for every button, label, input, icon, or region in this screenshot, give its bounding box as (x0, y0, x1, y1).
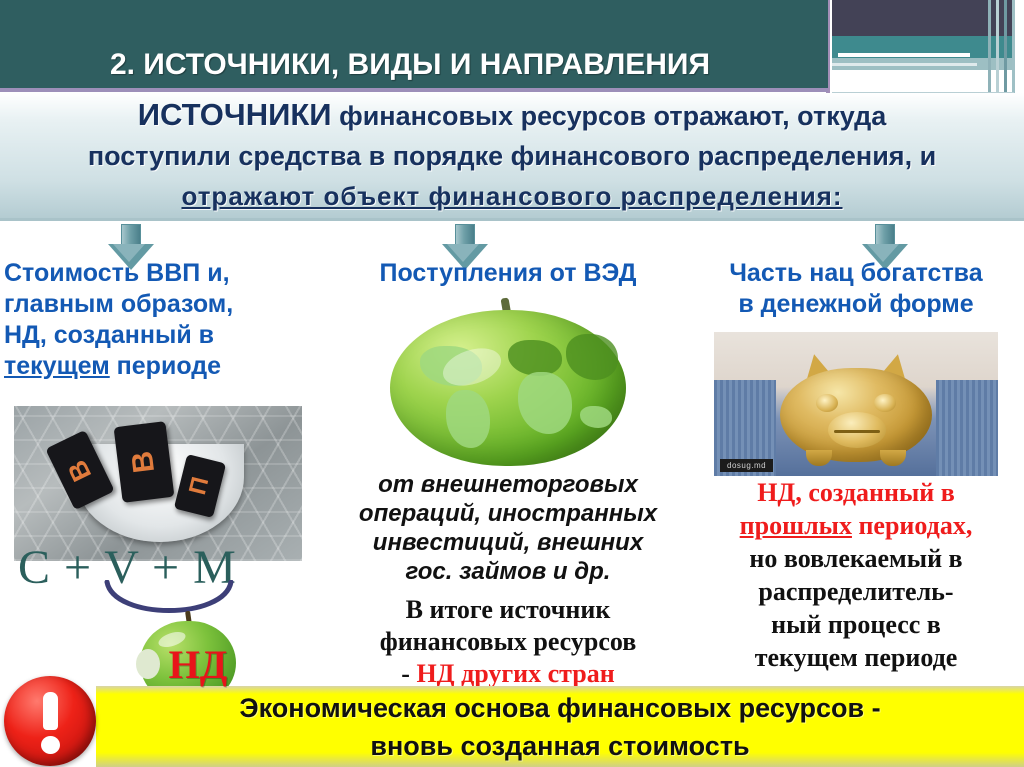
decor-white-block (832, 70, 1014, 94)
decor-dark-block (832, 0, 1014, 36)
left-heading-underlined-word: текущем (4, 352, 110, 380)
middle-body-serif: В итоге источник финансовых ресурсов - Н… (330, 594, 686, 690)
decor-white-line-secondary (832, 63, 977, 66)
exclamation-dot (41, 736, 60, 754)
piggy-coin-slot (834, 430, 880, 433)
right-heading-line2: в денежной форме (738, 290, 973, 318)
exclamation-bar (43, 692, 58, 730)
arrow-stem (875, 224, 895, 246)
golden-piggy-bank-icon (780, 354, 932, 466)
piggy-leg-left (806, 450, 832, 466)
column-middle-foreign-trade: Поступления от ВЭД от внешнеторговых опе… (334, 258, 682, 289)
piggy-eye-right (874, 394, 896, 412)
piggy-eye-left (816, 394, 838, 412)
subtitle-line3: отражают объект финансового распределени… (4, 176, 1020, 216)
exclamation-icon (4, 676, 96, 766)
middle-italic-text: от внешнеторговых операций, иностранных … (359, 471, 657, 585)
column-right-national-wealth: Часть нац богатства в денежной форме dos… (690, 258, 1022, 320)
decor-white-line (838, 53, 970, 57)
column-left-gdp: Стоимость ВВП и, главным образом, НД, со… (4, 258, 322, 382)
subtitle-text: ИСТОЧНИКИ финансовых ресурсов отражают, … (4, 95, 1020, 216)
continent-asia (566, 334, 618, 380)
arrow-stem (121, 224, 141, 246)
header-accent-underline (0, 88, 828, 92)
right-body-text: НД, созданный в прошлых периодах, но вов… (686, 476, 1024, 674)
middle-body-italic: от внешнеторговых операций, иностранных … (334, 470, 682, 586)
bag-1-label: В (62, 454, 98, 485)
middle-serif-line1: В итоге источник (406, 595, 611, 624)
decor-vstripe-3 (1004, 0, 1007, 96)
page-title-line1: 2. ИСТОЧНИКИ, ВИДЫ И НАПРАВЛЕНИЯ (110, 48, 710, 81)
continent-europe (508, 340, 562, 376)
bottom-banner: Экономическая основа финансовых ресурсов… (96, 686, 1024, 767)
image-watermark: dosug.md (720, 459, 773, 472)
slide-header-bar: 2. ИСТОЧНИКИ, ВИДЫ И НАПРАВЛЕНИЯ ИСПОЛЬЗ… (0, 0, 828, 88)
right-red-underlined: прошлых (740, 511, 852, 540)
apple-nd-label: НД (150, 641, 246, 688)
continent-africa (518, 372, 572, 434)
right-line5: ный процесс в (771, 610, 941, 639)
right-line4: распределитель- (758, 577, 953, 606)
right-line3: но вовлекаемый в (749, 544, 962, 573)
right-red-comma: , (966, 511, 973, 540)
decor-vstripe-2 (996, 0, 999, 96)
subtitle-panel: ИСТОЧНИКИ финансовых ресурсов отражают, … (0, 93, 1024, 221)
middle-serif-line2: финансовых ресурсов (380, 627, 637, 656)
column-left-heading: Стоимость ВВП и, главным образом, НД, со… (4, 258, 322, 382)
piggy-bank-photo: dosug.md (714, 332, 998, 476)
banner-line1: Экономическая основа финансовых ресурсов… (239, 693, 880, 723)
vvp-bags-photo: В В П (14, 406, 302, 561)
right-line6: текущем периоде (755, 643, 958, 672)
decor-vstripe-4 (1012, 0, 1015, 96)
left-heading-line1: Стоимость ВВП и, (4, 259, 230, 287)
bag-2-label: В (126, 449, 162, 475)
middle-serif-line3-prefix: - (401, 659, 416, 688)
decor-vstripe-1 (988, 0, 991, 96)
column-middle-heading: Поступления от ВЭД (334, 258, 682, 289)
banner-line2: вновь созданная стоимость (370, 731, 749, 761)
bottom-banner-text: Экономическая основа финансовых ресурсов… (96, 689, 1024, 765)
subtitle-emphasis: ИСТОЧНИКИ (138, 97, 332, 132)
middle-heading-line1: Поступления от ВЭД (379, 259, 636, 287)
green-apple-globe-image (390, 298, 626, 466)
column-right-heading: Часть нац богатства в денежной форме (690, 258, 1022, 320)
middle-serif-line3-red: НД других стран (416, 659, 614, 688)
left-heading-line2: главным образом, (4, 290, 233, 318)
right-red-line1: НД, созданный в (757, 478, 955, 507)
left-heading-line3: НД, созданный в (4, 321, 214, 349)
bag-3-label: П (184, 474, 215, 498)
right-heading-line1: Часть нац богатства (729, 259, 982, 287)
bag-letter-2: В (114, 421, 175, 503)
globe-apple-body (390, 310, 626, 466)
arrow-stem (455, 224, 475, 246)
subtitle-line1-rest: финансовых ресурсов отражают, откуда (332, 101, 887, 131)
left-heading-line4-rest: периоде (110, 352, 221, 380)
piggy-leg-right (880, 450, 906, 466)
right-red-line2-rest: периодах (852, 511, 966, 540)
subtitle-line2: поступили средства в порядке финансового… (88, 141, 936, 171)
continent-south-america (446, 390, 490, 448)
continent-australia (580, 406, 612, 428)
